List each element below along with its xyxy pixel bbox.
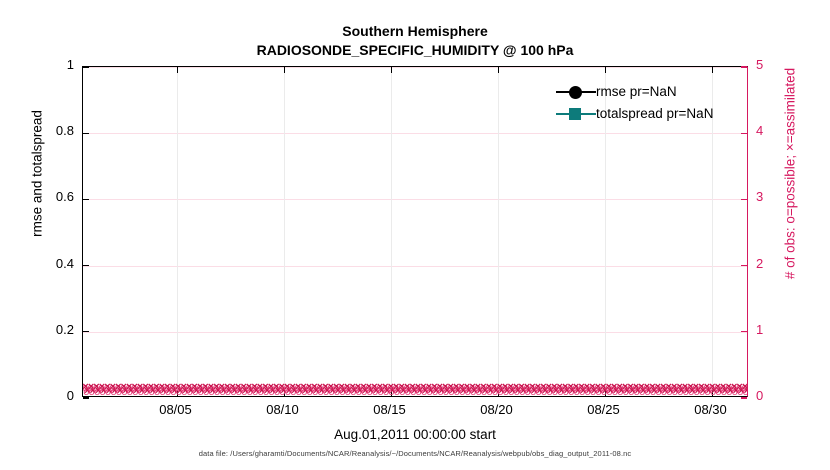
obs-possible-marker: o (583, 383, 589, 394)
obs-possible-marker: o (262, 383, 268, 394)
obs-possible-marker: o (578, 383, 584, 394)
obs-possible-marker: o (694, 387, 700, 396)
obs-assimilated-marker: × (204, 386, 210, 396)
obs-assimilated-marker: × (567, 382, 573, 393)
vertical-gridline (284, 67, 285, 396)
x-axis-tick-label: 08/20 (457, 402, 537, 417)
obs-possible-marker: o (573, 383, 579, 394)
obs-assimilated-marker: × (449, 386, 455, 396)
obs-assimilated-marker: × (469, 382, 475, 393)
obs-assimilated-marker: × (613, 386, 619, 396)
obs-possible-marker: o (736, 383, 742, 394)
obs-possible-marker: o (503, 387, 509, 396)
obs-possible-marker: o (263, 387, 269, 396)
obs-possible-marker: o (311, 383, 317, 394)
obs-assimilated-marker: × (651, 386, 657, 396)
obs-assimilated-marker: × (700, 386, 706, 396)
obs-assimilated-marker: × (340, 386, 346, 396)
obs-possible-marker: o (638, 383, 644, 394)
vertical-gridline (498, 67, 499, 396)
x-axis-tick-bottom (284, 390, 285, 396)
obs-assimilated-marker: × (220, 386, 226, 396)
obs-assimilated-marker: × (460, 386, 466, 396)
obs-assimilated-marker: × (139, 386, 145, 396)
obs-assimilated-marker: × (235, 382, 241, 393)
obs-assimilated-marker: × (300, 382, 306, 393)
obs-assimilated-marker: × (546, 382, 552, 393)
obs-assimilated-marker: × (638, 382, 644, 393)
obs-assimilated-marker: × (366, 382, 372, 393)
obs-assimilated-marker: × (393, 382, 399, 393)
obs-possible-marker: o (399, 387, 405, 396)
obs-assimilated-marker: × (329, 386, 335, 396)
obs-assimilated-marker: × (379, 386, 385, 396)
obs-assimilated-marker: × (727, 386, 733, 396)
legend-marker-shape (569, 108, 581, 120)
obs-assimilated-marker: × (508, 382, 514, 393)
obs-assimilated-marker: × (368, 386, 374, 396)
obs-assimilated-marker: × (373, 386, 379, 396)
obs-assimilated-marker: × (344, 382, 350, 393)
obs-possible-marker: o (530, 387, 536, 396)
obs-possible-marker: o (556, 383, 562, 394)
obs-assimilated-marker: × (137, 382, 143, 393)
obs-possible-marker: o (563, 387, 569, 396)
y-axis-right-tick (741, 397, 747, 398)
obs-assimilated-marker: × (240, 382, 246, 393)
obs-assimilated-marker: × (133, 386, 139, 396)
obs-assimilated-marker: × (498, 386, 504, 396)
obs-assimilated-marker: × (131, 382, 137, 393)
obs-assimilated-marker: × (219, 382, 225, 393)
obs-possible-marker: o (443, 387, 449, 396)
obs-possible-marker: o (318, 387, 324, 396)
obs-possible-marker: o (654, 383, 660, 394)
obs-possible-marker: o (726, 387, 732, 396)
obs-possible-marker: o (448, 387, 454, 396)
obs-assimilated-marker: × (535, 382, 541, 393)
obs-possible-marker: o (367, 387, 373, 396)
obs-possible-marker: o (344, 383, 350, 394)
obs-possible-marker: o (350, 387, 356, 396)
obs-possible-marker: o (153, 383, 159, 394)
obs-possible-marker: o (519, 387, 525, 396)
obs-possible-marker: o (404, 383, 410, 394)
obs-possible-marker: o (186, 383, 192, 394)
obs-assimilated-marker: × (128, 386, 134, 396)
obs-assimilated-marker: × (726, 382, 732, 393)
obs-possible-marker: o (605, 383, 611, 394)
obs-assimilated-marker: × (246, 382, 252, 393)
obs-possible-marker: o (120, 383, 126, 394)
obs-assimilated-marker: × (433, 386, 439, 396)
obs-assimilated-marker: × (529, 382, 535, 393)
obs-assimilated-marker: × (357, 386, 363, 396)
obs-assimilated-marker: × (660, 382, 666, 393)
obs-possible-marker: o (476, 387, 482, 396)
obs-possible-marker: o (585, 387, 591, 396)
obs-possible-marker: o (361, 387, 367, 396)
obs-possible-marker: o (655, 387, 661, 396)
obs-possible-marker: o (683, 387, 689, 396)
obs-possible-marker: o (447, 383, 453, 394)
obs-assimilated-marker: × (480, 382, 486, 393)
obs-assimilated-marker: × (311, 382, 317, 393)
obs-possible-marker: o (196, 383, 202, 394)
obs-assimilated-marker: × (104, 382, 110, 393)
obs-possible-marker: o (256, 383, 262, 394)
obs-assimilated-marker: × (504, 386, 510, 396)
obs-assimilated-marker: × (475, 382, 481, 393)
chart-title-block: Southern Hemisphere RADIOSONDE_SPECIFIC_… (0, 22, 830, 60)
obs-assimilated-marker: × (210, 386, 216, 396)
obs-assimilated-marker: × (682, 382, 688, 393)
obs-assimilated-marker: × (95, 386, 101, 396)
obs-possible-marker: o (622, 383, 628, 394)
obs-assimilated-marker: × (83, 382, 89, 393)
legend-item[interactable]: totalspread pr=NaN (556, 104, 713, 123)
obs-assimilated-marker: × (442, 382, 448, 393)
obs-possible-marker: o (741, 383, 747, 394)
obs-assimilated-marker: × (248, 386, 254, 396)
obs-possible-marker: o (300, 383, 306, 394)
obs-assimilated-marker: × (213, 382, 219, 393)
obs-possible-marker: o (121, 387, 127, 396)
obs-possible-marker: o (290, 387, 296, 396)
obs-assimilated-marker: × (426, 382, 432, 393)
obs-possible-marker: o (240, 383, 246, 394)
obs-assimilated-marker: × (406, 386, 412, 396)
obs-possible-marker: o (671, 383, 677, 394)
obs-possible-marker: o (219, 387, 225, 396)
obs-assimilated-marker: × (731, 382, 737, 393)
obs-possible-marker: o (224, 383, 230, 394)
horizontal-gridline (83, 332, 747, 333)
obs-assimilated-marker: × (335, 386, 341, 396)
obs-assimilated-marker: × (166, 386, 172, 396)
obs-possible-marker: o (514, 387, 520, 396)
obs-assimilated-marker: × (464, 382, 470, 393)
obs-possible-marker: o (725, 383, 731, 394)
obs-possible-marker: o (568, 387, 574, 396)
obs-assimilated-marker: × (159, 382, 165, 393)
obs-assimilated-marker: × (275, 386, 281, 396)
obs-possible-marker: o (316, 383, 322, 394)
obs-possible-marker: o (110, 387, 116, 396)
obs-assimilated-marker: × (322, 382, 328, 393)
obs-possible-marker: o (187, 387, 193, 396)
obs-assimilated-marker: × (422, 386, 428, 396)
obs-possible-marker: o (376, 383, 382, 394)
obs-assimilated-marker: × (471, 386, 477, 396)
obs-assimilated-marker: × (142, 382, 148, 393)
x-axis-tick-top (605, 67, 606, 73)
obs-assimilated-marker: × (558, 386, 564, 396)
obs-assimilated-marker: × (666, 382, 672, 393)
obs-assimilated-marker: × (551, 382, 557, 393)
obs-assimilated-marker: × (191, 382, 197, 393)
obs-possible-marker: o (230, 387, 236, 396)
obs-possible-marker: o (394, 387, 400, 396)
obs-possible-marker: o (301, 387, 307, 396)
obs-assimilated-marker: × (720, 382, 726, 393)
obs-assimilated-marker: × (404, 382, 410, 393)
obs-assimilated-marker: × (117, 386, 123, 396)
obs-assimilated-marker: × (420, 382, 426, 393)
obs-possible-marker: o (323, 387, 329, 396)
obs-possible-marker: o (420, 383, 426, 394)
obs-assimilated-marker: × (673, 386, 679, 396)
obs-assimilated-marker: × (431, 382, 437, 393)
obs-possible-marker: o (481, 387, 487, 396)
vertical-gridline (177, 67, 178, 396)
obs-assimilated-marker: × (695, 386, 701, 396)
x-axis-tick-label: 08/05 (136, 402, 216, 417)
legend-marker-square-icon (556, 106, 596, 122)
obs-assimilated-marker: × (290, 382, 296, 393)
obs-assimilated-marker: × (656, 386, 662, 396)
obs-possible-marker: o (682, 383, 688, 394)
obs-assimilated-marker: × (188, 386, 194, 396)
obs-assimilated-marker: × (202, 382, 208, 393)
obs-assimilated-marker: × (349, 382, 355, 393)
obs-assimilated-marker: × (578, 382, 584, 393)
obs-assimilated-marker: × (553, 386, 559, 396)
obs-possible-marker: o (116, 387, 122, 396)
obs-possible-marker: o (687, 383, 693, 394)
obs-possible-marker: o (454, 387, 460, 396)
y-axis-left-tick (83, 265, 89, 266)
obs-assimilated-marker: × (230, 382, 236, 393)
obs-possible-marker: o (465, 387, 471, 396)
obs-assimilated-marker: × (655, 382, 661, 393)
obs-possible-marker: o (371, 383, 377, 394)
y-axis-right-tick-label: 1 (756, 322, 796, 337)
obs-assimilated-marker: × (110, 382, 116, 393)
obs-assimilated-marker: × (557, 382, 563, 393)
obs-possible-marker: o (458, 383, 464, 394)
horizontal-gridline (83, 67, 747, 68)
obs-assimilated-marker: × (689, 386, 695, 396)
obs-assimilated-marker: × (537, 386, 543, 396)
obs-assimilated-marker: × (520, 386, 526, 396)
obs-assimilated-marker: × (573, 382, 579, 393)
legend-item-label: totalspread pr=NaN (596, 106, 713, 121)
obs-assimilated-marker: × (360, 382, 366, 393)
obs-possible-marker: o (676, 383, 682, 394)
obs-possible-marker: o (414, 383, 420, 394)
obs-possible-marker: o (427, 387, 433, 396)
obs-assimilated-marker: × (150, 386, 156, 396)
obs-possible-marker: o (149, 387, 155, 396)
obs-possible-marker: o (692, 383, 698, 394)
obs-possible-marker: o (322, 383, 328, 394)
obs-assimilated-marker: × (355, 382, 361, 393)
obs-assimilated-marker: × (106, 386, 112, 396)
obs-assimilated-marker: × (400, 386, 406, 396)
obs-assimilated-marker: × (455, 386, 461, 396)
obs-assimilated-marker: × (540, 382, 546, 393)
obs-possible-marker: o (643, 383, 649, 394)
obs-possible-marker: o (251, 383, 257, 394)
obs-assimilated-marker: × (111, 386, 117, 396)
obs-possible-marker: o (470, 387, 476, 396)
legend-item[interactable]: rmse pr=NaN (556, 82, 713, 101)
obs-possible-marker: o (714, 383, 720, 394)
obs-assimilated-marker: × (101, 386, 107, 396)
obs-possible-marker: o (525, 387, 531, 396)
obs-possible-marker: o (579, 387, 585, 396)
obs-assimilated-marker: × (667, 386, 673, 396)
obs-possible-marker: o (393, 383, 399, 394)
x-axis-tick-top (177, 67, 178, 73)
obs-assimilated-marker: × (224, 382, 230, 393)
obs-possible-marker: o (705, 387, 711, 396)
obs-possible-marker: o (650, 387, 656, 396)
obs-possible-marker: o (416, 387, 422, 396)
obs-possible-marker: o (207, 383, 213, 394)
obs-possible-marker: o (732, 387, 738, 396)
obs-assimilated-marker: × (524, 382, 530, 393)
obs-assimilated-marker: × (629, 386, 635, 396)
obs-assimilated-marker: × (317, 382, 323, 393)
obs-assimilated-marker: × (295, 382, 301, 393)
obs-possible-marker: o (273, 383, 279, 394)
y-axis-left-title: rmse and totalspread (30, 34, 45, 314)
obs-possible-marker: o (235, 383, 241, 394)
obs-possible-marker: o (209, 387, 215, 396)
obs-assimilated-marker: × (197, 382, 203, 393)
obs-possible-marker: o (518, 383, 524, 394)
obs-assimilated-marker: × (531, 386, 537, 396)
obs-assimilated-marker: × (722, 386, 728, 396)
obs-possible-marker: o (634, 387, 640, 396)
obs-possible-marker: o (409, 383, 415, 394)
obs-assimilated-marker: × (597, 386, 603, 396)
obs-possible-marker: o (165, 387, 171, 396)
obs-possible-marker: o (590, 387, 596, 396)
obs-assimilated-marker: × (93, 382, 99, 393)
obs-possible-marker: o (432, 387, 438, 396)
x-axis-tick-bottom (712, 390, 713, 396)
obs-assimilated-marker: × (148, 382, 154, 393)
obs-possible-marker: o (437, 387, 443, 396)
obs-possible-marker: o (545, 383, 551, 394)
obs-assimilated-marker: × (99, 382, 105, 393)
x-axis-tick-bottom (605, 390, 606, 396)
obs-possible-marker: o (345, 387, 351, 396)
obs-possible-marker: o (720, 383, 726, 394)
obs-possible-marker: o (464, 383, 470, 394)
obs-possible-marker: o (698, 383, 704, 394)
obs-assimilated-marker: × (90, 386, 96, 396)
obs-possible-marker: o (104, 383, 110, 394)
obs-assimilated-marker: × (569, 386, 575, 396)
obs-possible-marker: o (267, 383, 273, 394)
y-axis-right-tick (741, 199, 747, 200)
obs-assimilated-marker: × (242, 386, 248, 396)
x-axis-tick-label: 08/10 (243, 402, 323, 417)
obs-possible-marker: o (546, 387, 552, 396)
obs-possible-marker: o (431, 383, 437, 394)
obs-possible-marker: o (628, 387, 634, 396)
obs-assimilated-marker: × (693, 382, 699, 393)
obs-possible-marker: o (551, 383, 557, 394)
obs-assimilated-marker: × (448, 382, 454, 393)
y-axis-right-tick (741, 66, 747, 67)
obs-possible-marker: o (356, 387, 362, 396)
obs-possible-marker: o (202, 383, 208, 394)
obs-assimilated-marker: × (622, 382, 628, 393)
x-axis-tick-label: 08/30 (671, 402, 751, 417)
obs-assimilated-marker: × (542, 386, 548, 396)
obs-assimilated-marker: × (409, 382, 415, 393)
y-axis-left-tick (83, 199, 89, 200)
obs-assimilated-marker: × (268, 382, 274, 393)
obs-assimilated-marker: × (624, 386, 630, 396)
obs-assimilated-marker: × (488, 386, 494, 396)
obs-assimilated-marker: × (518, 382, 524, 393)
obs-possible-marker: o (552, 387, 558, 396)
page-title: Southern Hemisphere (0, 22, 830, 41)
obs-assimilated-marker: × (562, 382, 568, 393)
obs-possible-marker: o (164, 383, 170, 394)
obs-possible-marker: o (98, 383, 104, 394)
x-axis-title: Aug.01,2011 00:00:00 start (0, 427, 830, 442)
obs-assimilated-marker: × (284, 382, 290, 393)
x-axis-tick-label: 08/15 (350, 402, 430, 417)
obs-assimilated-marker: × (736, 382, 742, 393)
x-axis-tick-label: 08/25 (564, 402, 644, 417)
obs-possible-marker: o (285, 387, 291, 396)
chart-legend: rmse pr=NaNtotalspread pr=NaN (556, 82, 713, 123)
obs-assimilated-marker: × (486, 382, 492, 393)
obs-assimilated-marker: × (744, 386, 747, 396)
obs-assimilated-marker: × (458, 382, 464, 393)
obs-assimilated-marker: × (547, 386, 553, 396)
obs-assimilated-marker: × (509, 386, 515, 396)
obs-possible-marker: o (349, 383, 355, 394)
obs-assimilated-marker: × (286, 386, 292, 396)
x-axis-tick-bottom (391, 390, 392, 396)
obs-assimilated-marker: × (684, 386, 690, 396)
obs-assimilated-marker: × (384, 386, 390, 396)
obs-possible-marker: o (143, 387, 149, 396)
obs-possible-marker: o (191, 383, 197, 394)
obs-possible-marker: o (410, 387, 416, 396)
obs-possible-marker: o (491, 383, 497, 394)
obs-assimilated-marker: × (115, 382, 121, 393)
obs-assimilated-marker: × (595, 382, 601, 393)
obs-assimilated-marker: × (351, 386, 357, 396)
obs-possible-marker: o (241, 387, 247, 396)
y-axis-right-tick (741, 331, 747, 332)
obs-assimilated-marker: × (627, 382, 633, 393)
obs-assimilated-marker: × (733, 386, 739, 396)
obs-assimilated-marker: × (302, 386, 308, 396)
x-axis-tick-top (284, 67, 285, 73)
obs-assimilated-marker: × (466, 386, 472, 396)
obs-possible-marker: o (327, 383, 333, 394)
obs-possible-marker: o (567, 383, 573, 394)
obs-possible-marker: o (338, 383, 344, 394)
obs-possible-marker: o (623, 387, 629, 396)
obs-possible-marker: o (274, 387, 280, 396)
obs-possible-marker: o (307, 387, 313, 396)
obs-possible-marker: o (127, 387, 133, 396)
obs-possible-marker: o (442, 383, 448, 394)
obs-possible-marker: o (236, 387, 242, 396)
